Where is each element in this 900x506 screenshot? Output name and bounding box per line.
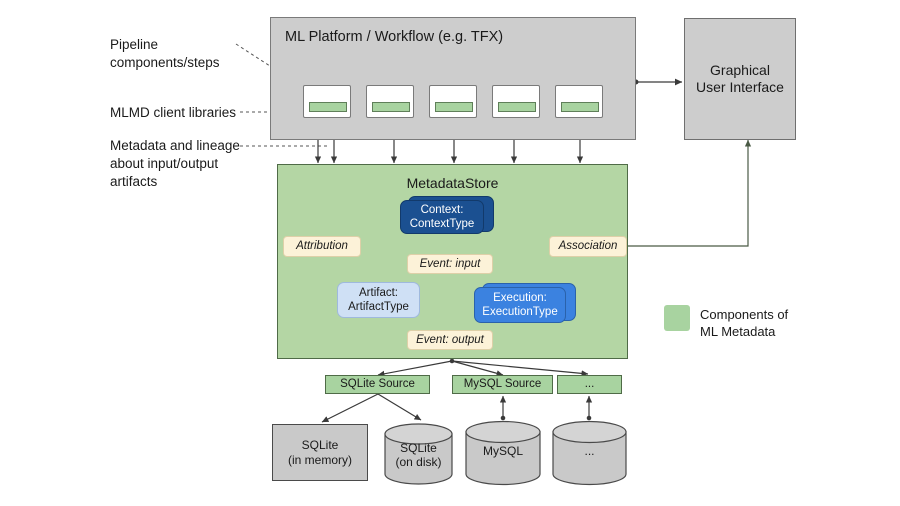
diagram-canvas: Pipeline components/steps MLMD client li… <box>0 0 900 506</box>
association-relation[interactable]: Association <box>549 236 627 257</box>
annotation-metadata-lineage: Metadata and lineage about input/output … <box>110 137 260 191</box>
other-db[interactable]: ... <box>553 444 626 458</box>
sqlite-source-box[interactable]: SQLite Source <box>325 375 430 394</box>
annotation-mlmd-client-libraries: MLMD client libraries <box>110 104 260 122</box>
pipeline-component-4[interactable] <box>492 85 540 118</box>
pipeline-component-2[interactable] <box>366 85 414 118</box>
attribution-relation[interactable]: Attribution <box>283 236 361 257</box>
mysql-source-box[interactable]: MySQL Source <box>452 375 553 394</box>
metadata-store-title: MetadataStore <box>278 175 627 192</box>
legend-label: Components of ML Metadata <box>700 306 840 341</box>
mysql-db[interactable]: MySQL <box>466 444 540 458</box>
mlmd-client-library-bar-4 <box>498 102 536 112</box>
mlmd-client-library-bar-2 <box>372 102 410 112</box>
context-node[interactable]: Context: ContextType <box>400 200 484 234</box>
mlmd-client-library-bar-5 <box>561 102 599 112</box>
mlmd-client-library-bar-3 <box>435 102 473 112</box>
other-source-box[interactable]: ... <box>557 375 622 394</box>
graphical-user-interface-panel[interactable]: Graphical User Interface <box>684 18 796 140</box>
pipeline-component-3[interactable] <box>429 85 477 118</box>
sqlite-on-disk-db[interactable]: SQLite (on disk) <box>385 441 452 470</box>
mlmd-client-library-bar-1 <box>309 102 347 112</box>
pipeline-component-1[interactable] <box>303 85 351 118</box>
ml-platform-title: ML Platform / Workflow (e.g. TFX) <box>285 29 503 47</box>
legend-swatch <box>664 305 690 331</box>
event-input-relation[interactable]: Event: input <box>407 254 493 274</box>
artifact-node[interactable]: Artifact: ArtifactType <box>337 282 420 318</box>
ml-platform-panel: ML Platform / Workflow (e.g. TFX) <box>270 17 636 140</box>
event-output-relation[interactable]: Event: output <box>407 330 493 350</box>
annotation-pipeline-components: Pipeline components/steps <box>110 36 260 72</box>
execution-node[interactable]: Execution: ExecutionType <box>474 287 566 323</box>
pipeline-component-5[interactable] <box>555 85 603 118</box>
sqlite-in-memory-db[interactable]: SQLite (in memory) <box>272 424 368 481</box>
